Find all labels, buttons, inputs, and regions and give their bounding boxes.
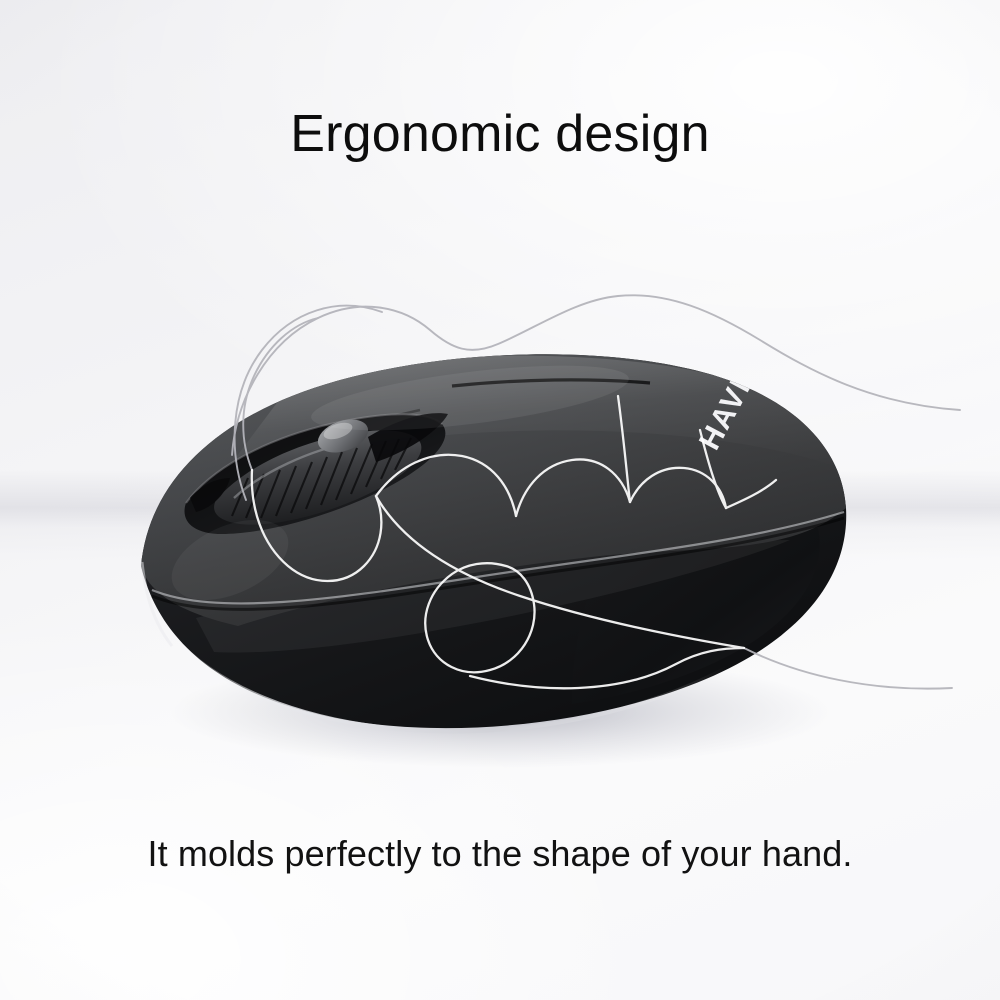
- page-title: Ergonomic design: [0, 106, 1000, 163]
- product-feature-slide: HAVIT: [0, 0, 1000, 1000]
- page-caption: It molds perfectly to the shape of your …: [0, 833, 1000, 874]
